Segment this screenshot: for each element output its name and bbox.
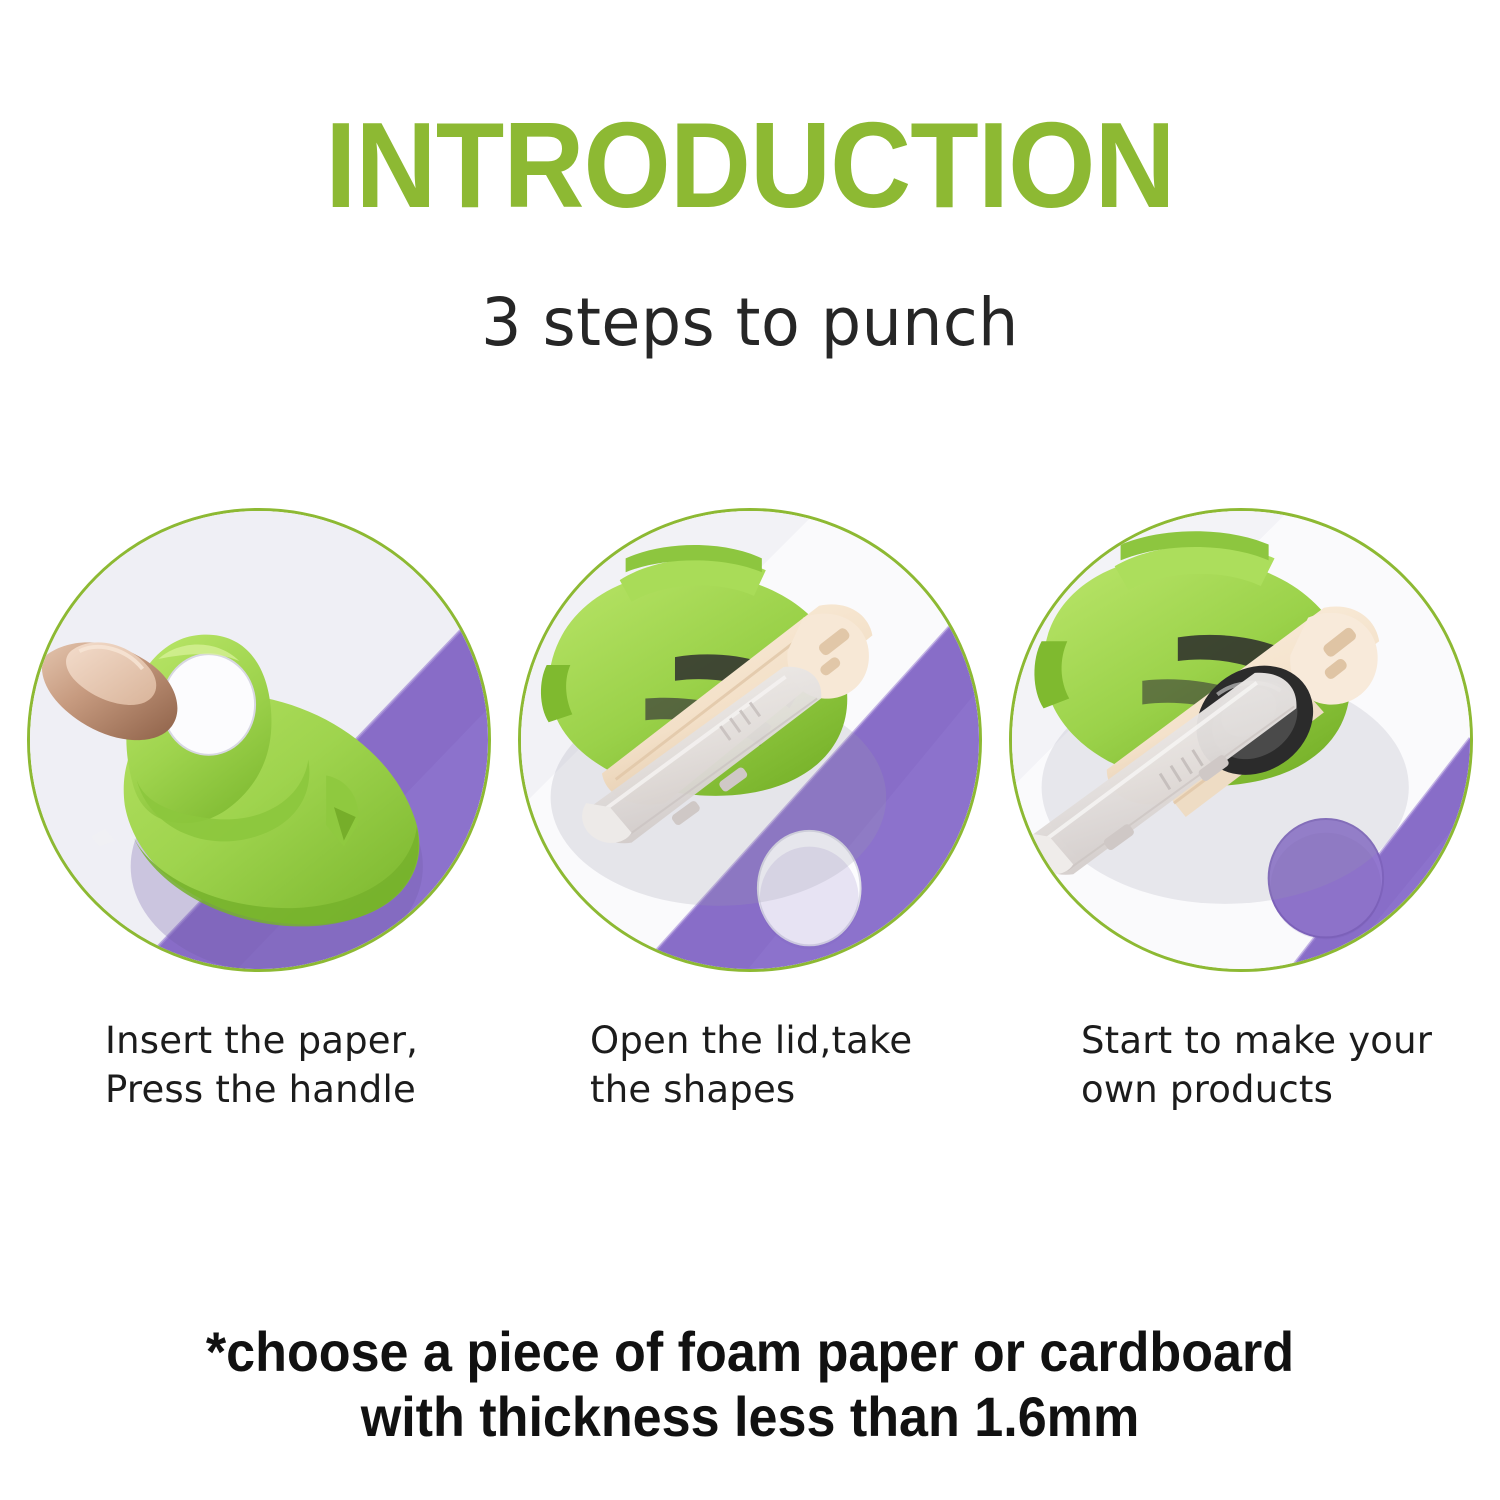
step-2-caption: Open the lid,take the shapes [590,1016,1010,1114]
step-3: Start to make your own products [1009,508,1473,1128]
punch-tray-out-purple-circle-illustration [1012,511,1470,969]
infographic-page: INTRODUCTION 3 steps to punch [0,0,1500,1500]
step-1-caption: Insert the paper, Press the handle [105,1016,525,1114]
step-2-photo [518,508,982,972]
page-subtitle: 3 steps to punch [30,290,1470,356]
footer-note: *choose a piece of foam paper or cardboa… [53,1320,1448,1450]
step-2: Open the lid,take the shapes [518,508,982,1128]
punch-lid-open-white-circle-illustration [521,511,979,969]
step-1: Insert the paper, Press the handle [27,508,491,1128]
step-1-photo [27,508,491,972]
step-3-photo [1009,508,1473,972]
thumb-pressing-punch-handle-illustration [30,511,488,969]
steps-row: Insert the paper, Press the handle [0,508,1500,1128]
step-3-caption: Start to make your own products [1081,1016,1500,1114]
page-title: INTRODUCTION [60,104,1440,226]
